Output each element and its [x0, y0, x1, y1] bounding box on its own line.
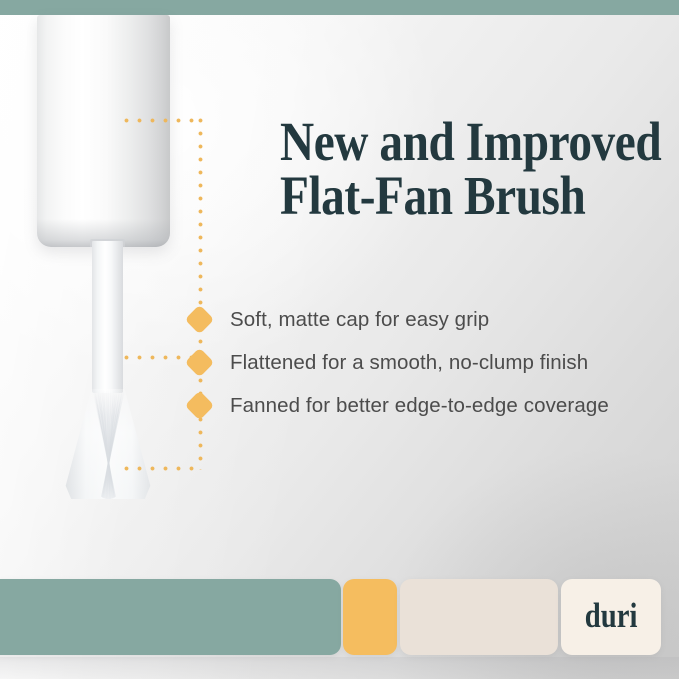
- feature-list: Soft, matte cap for easy grip Flattened …: [186, 298, 656, 427]
- list-item: Fanned for better edge-to-edge coverage: [186, 384, 656, 427]
- dotted-connector-cap: [124, 118, 202, 123]
- dotted-connector-bristles: [124, 466, 202, 471]
- headline-line-2: Flat-Fan Brush: [280, 169, 614, 223]
- product-image: [0, 15, 230, 515]
- brand-logo-text: duri: [585, 598, 638, 636]
- diamond-bullet-icon: [185, 391, 215, 421]
- product-infographic: New and Improved Flat-Fan Brush Soft, ma…: [0, 0, 679, 679]
- brand-logo-block: duri: [561, 579, 661, 655]
- feature-text: Fanned for better edge-to-edge coverage: [230, 394, 609, 418]
- headline-line-1: New and Improved: [280, 115, 614, 169]
- brush-stem: [92, 241, 123, 393]
- headline: New and Improved Flat-Fan Brush: [280, 115, 614, 223]
- swatch-cream: [400, 579, 558, 655]
- list-item: Flattened for a smooth, no-clump finish: [186, 341, 656, 384]
- top-accent-band: [0, 0, 679, 15]
- brush-bristles: [62, 389, 154, 499]
- feature-text: Soft, matte cap for easy grip: [230, 308, 489, 332]
- swatch-green: [0, 579, 341, 655]
- bottle-cap: [37, 15, 170, 247]
- diamond-bullet-icon: [185, 348, 215, 378]
- list-item: Soft, matte cap for easy grip: [186, 298, 656, 341]
- diamond-bullet-icon: [185, 305, 215, 335]
- footer-color-bar: duri: [0, 579, 679, 655]
- swatch-orange: [343, 579, 397, 655]
- feature-text: Flattened for a smooth, no-clump finish: [230, 351, 588, 375]
- bristle-shading: [62, 389, 154, 499]
